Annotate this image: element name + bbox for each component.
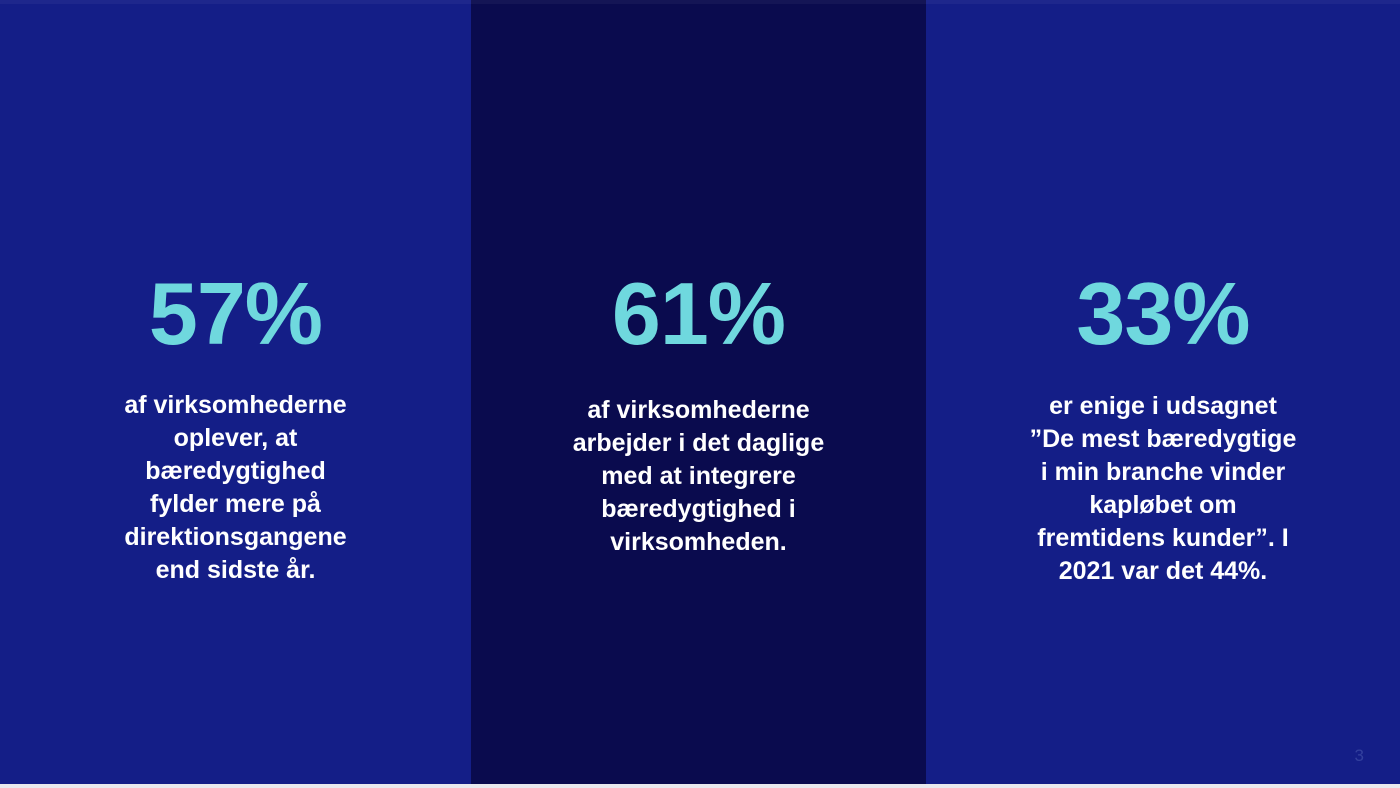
stat-value-3: 33%	[1076, 270, 1249, 358]
stat-value-1: 57%	[149, 270, 322, 358]
slide-bottom-edge	[0, 784, 1400, 788]
statistics-slide: 57% af virksomhederne oplever, at bæredy…	[0, 0, 1400, 788]
stat-caption-2: af virksomhederne arbejder i det daglige…	[514, 394, 884, 559]
page-number: 3	[1355, 747, 1364, 764]
stat-column-3: 33% er enige i udsagnet ”De mest bæredyg…	[926, 0, 1400, 788]
stat-caption-1: af virksomhederne oplever, at bæredygtig…	[71, 389, 401, 587]
stat-value-2: 61%	[612, 270, 785, 358]
statistics-columns: 57% af virksomhederne oplever, at bæredy…	[0, 0, 1400, 788]
stat-column-1: 57% af virksomhederne oplever, at bæredy…	[0, 0, 471, 788]
stat-caption-3: er enige i udsagnet ”De mest bæredygtige…	[983, 390, 1343, 588]
stat-column-2: 61% af virksomhederne arbejder i det dag…	[471, 0, 926, 788]
